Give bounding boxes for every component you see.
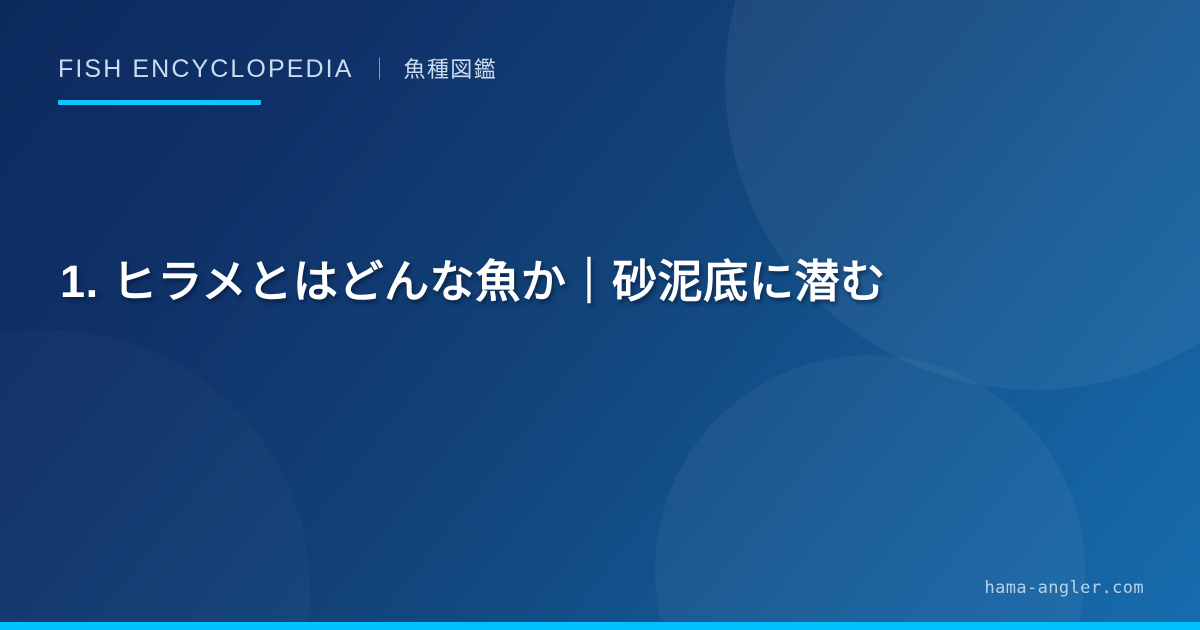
decorative-circle-top-right (725, 0, 1200, 390)
eyebrow-japanese-label: 魚種図鑑 (404, 52, 498, 84)
eyebrow-line: FISH ENCYCLOPEDIA ｜ 魚種図鑑 (58, 52, 497, 84)
eyebrow-separator: ｜ (368, 52, 390, 84)
accent-underline-bar (58, 100, 261, 105)
eyebrow-latin-label: FISH ENCYCLOPEDIA (58, 55, 353, 84)
card-header: FISH ENCYCLOPEDIA ｜ 魚種図鑑 (58, 52, 497, 105)
title-container: 1. ヒラメとはどんな魚か｜砂泥底に潜む (60, 252, 1140, 311)
decorative-circle-left (0, 330, 310, 630)
page-title: 1. ヒラメとはどんな魚か｜砂泥底に潜む (60, 252, 1140, 311)
og-card: FISH ENCYCLOPEDIA ｜ 魚種図鑑 1. ヒラメとはどんな魚か｜砂… (0, 0, 1200, 630)
site-domain-label: hama-angler.com (984, 578, 1144, 598)
bottom-accent-bar (0, 622, 1200, 630)
